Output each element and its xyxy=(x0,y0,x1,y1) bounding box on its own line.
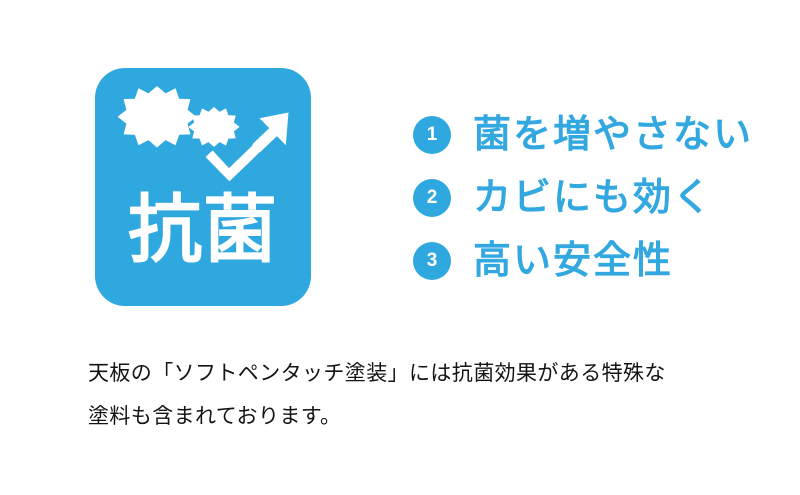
feature-item-3: 3 高い安全性 xyxy=(413,229,753,292)
caption-block: 天板の「ソフトペンタッチ塗装」には抗菌効果がある特殊な 塗料も含まれております。 xyxy=(88,352,748,438)
feature-number-badge-1: 1 xyxy=(413,116,451,154)
feature-label-1: 菌を増やさない xyxy=(473,116,753,154)
feature-label-2: カビにも効く xyxy=(473,179,713,217)
feature-label-3: 高い安全性 xyxy=(473,242,673,280)
antibacterial-icon-tile: 抗菌 xyxy=(95,68,311,306)
feature-list: 1 菌を増やさない 2 カビにも効く 3 高い安全性 xyxy=(413,103,753,292)
caption-line-1: 天板の「ソフトペンタッチ塗装」には抗菌効果がある特殊な xyxy=(88,352,748,395)
germ-arrow-illustration xyxy=(95,68,311,198)
feature-number-badge-2: 2 xyxy=(413,179,451,217)
feature-number-badge-3: 3 xyxy=(413,242,451,280)
germ-starburst-small-icon xyxy=(188,107,239,147)
caption-line-2: 塗料も含まれております。 xyxy=(88,395,748,438)
germ-starburst-large-icon xyxy=(118,86,197,148)
feature-item-2: 2 カビにも効く xyxy=(413,166,753,229)
content-canvas: 抗菌 1 菌を増やさない 2 カビにも効く 3 高い安全性 天板の「ソフトペンタ… xyxy=(0,0,800,495)
antibacterial-tile-label: 抗菌 xyxy=(95,193,311,267)
feature-item-1: 1 菌を増やさない xyxy=(413,103,753,166)
